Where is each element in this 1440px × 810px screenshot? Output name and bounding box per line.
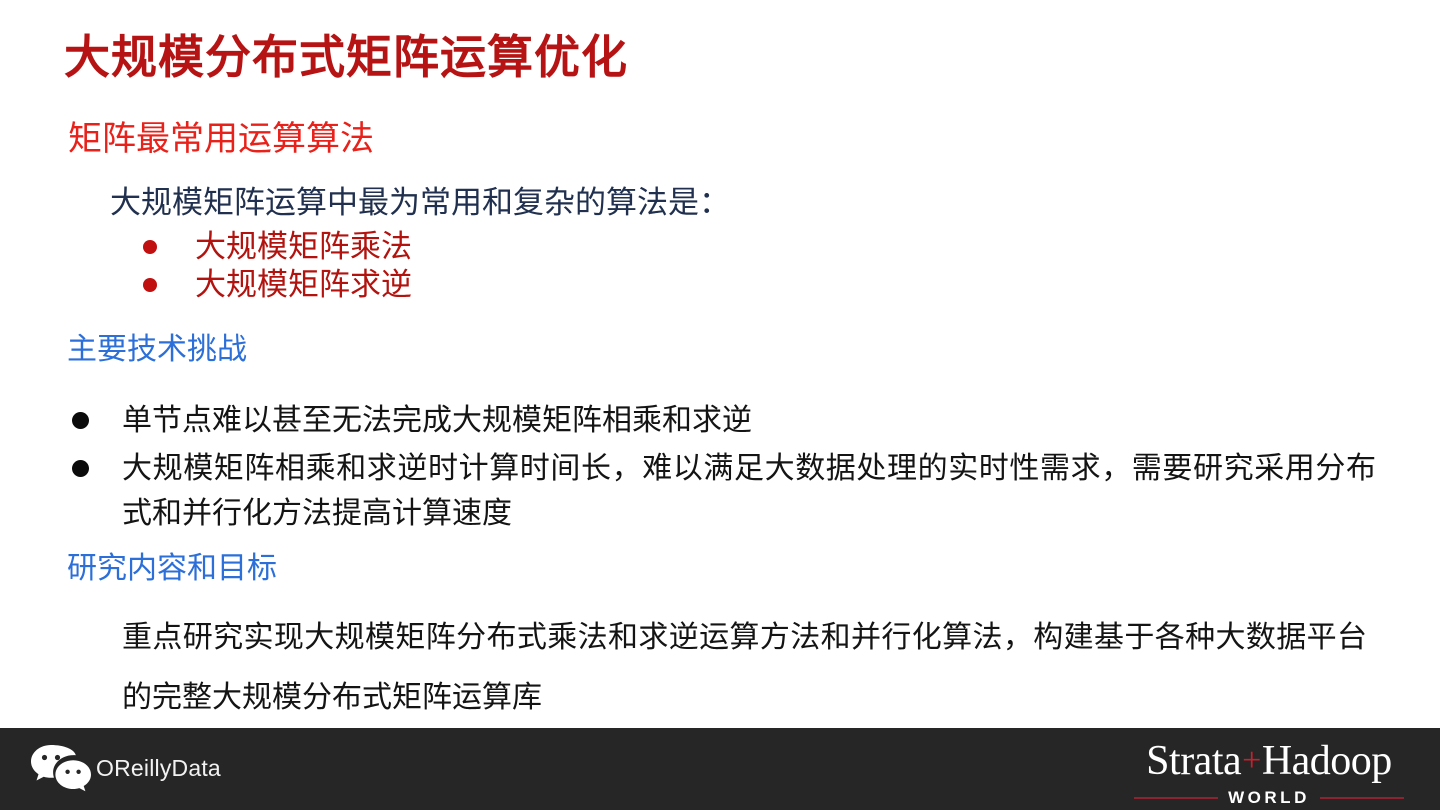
bullet-dot-icon bbox=[143, 240, 157, 254]
list-item: 大规模矩阵求逆 bbox=[143, 266, 843, 304]
list-item-label: 大规模矩阵相乘和求逆时计算时间长，难以满足大数据处理的实时性需求，需要研究采用分… bbox=[122, 446, 1376, 537]
list-item-label: 大规模矩阵求逆 bbox=[195, 268, 412, 302]
plus-icon: + bbox=[1241, 742, 1262, 779]
list-item-label: 大规模矩阵乘法 bbox=[195, 230, 412, 264]
list-item: 单节点难以甚至无法完成大规模矩阵相乘和求逆 bbox=[66, 398, 1376, 444]
challenges-bullet-list: 单节点难以甚至无法完成大规模矩阵相乘和求逆 大规模矩阵相乘和求逆时计算时间长，难… bbox=[66, 398, 1376, 539]
strata-world-row: WORLD bbox=[1134, 788, 1404, 808]
page-title: 大规模分布式矩阵运算优化 bbox=[64, 32, 628, 83]
wechat-icon bbox=[30, 743, 92, 795]
bullet-dot-icon bbox=[72, 412, 89, 429]
list-item-label: 单节点难以甚至无法完成大规模矩阵相乘和求逆 bbox=[122, 398, 1376, 444]
list-item: 大规模矩阵乘法 bbox=[143, 228, 843, 266]
rule-left bbox=[1134, 797, 1218, 799]
bullet-dot-icon bbox=[143, 278, 157, 292]
footer-bar: OReillyData Strata+Hadoop WORLD bbox=[0, 728, 1440, 810]
oreilly-data-label: OReillyData bbox=[96, 755, 221, 782]
strata-hadoop-logo: Strata+Hadoop WORLD bbox=[1134, 740, 1404, 808]
research-paragraph: 重点研究实现大规模矩阵分布式乘法和求逆运算方法和并行化算法，构建基于各种大数据平… bbox=[122, 608, 1367, 728]
hadoop-text: Hadoop bbox=[1262, 738, 1392, 784]
bullet-dot-icon bbox=[72, 460, 89, 477]
world-label: WORLD bbox=[1228, 788, 1310, 808]
list-item: 大规模矩阵相乘和求逆时计算时间长，难以满足大数据处理的实时性需求，需要研究采用分… bbox=[66, 446, 1376, 537]
strata-hadoop-wordmark: Strata+Hadoop bbox=[1134, 740, 1404, 782]
algorithms-bullet-list: 大规模矩阵乘法 大规模矩阵求逆 bbox=[143, 228, 843, 304]
section-heading-algorithms: 矩阵最常用运算算法 bbox=[68, 120, 374, 159]
section-heading-research: 研究内容和目标 bbox=[67, 552, 277, 587]
slide-canvas: 大规模分布式矩阵运算优化 矩阵最常用运算算法 大规模矩阵运算中最为常用和复杂的算… bbox=[0, 0, 1440, 810]
algorithms-intro-text: 大规模矩阵运算中最为常用和复杂的算法是： bbox=[110, 184, 730, 221]
strata-text: Strata bbox=[1146, 738, 1241, 784]
section-heading-challenges: 主要技术挑战 bbox=[67, 333, 247, 368]
rule-right bbox=[1320, 797, 1404, 799]
